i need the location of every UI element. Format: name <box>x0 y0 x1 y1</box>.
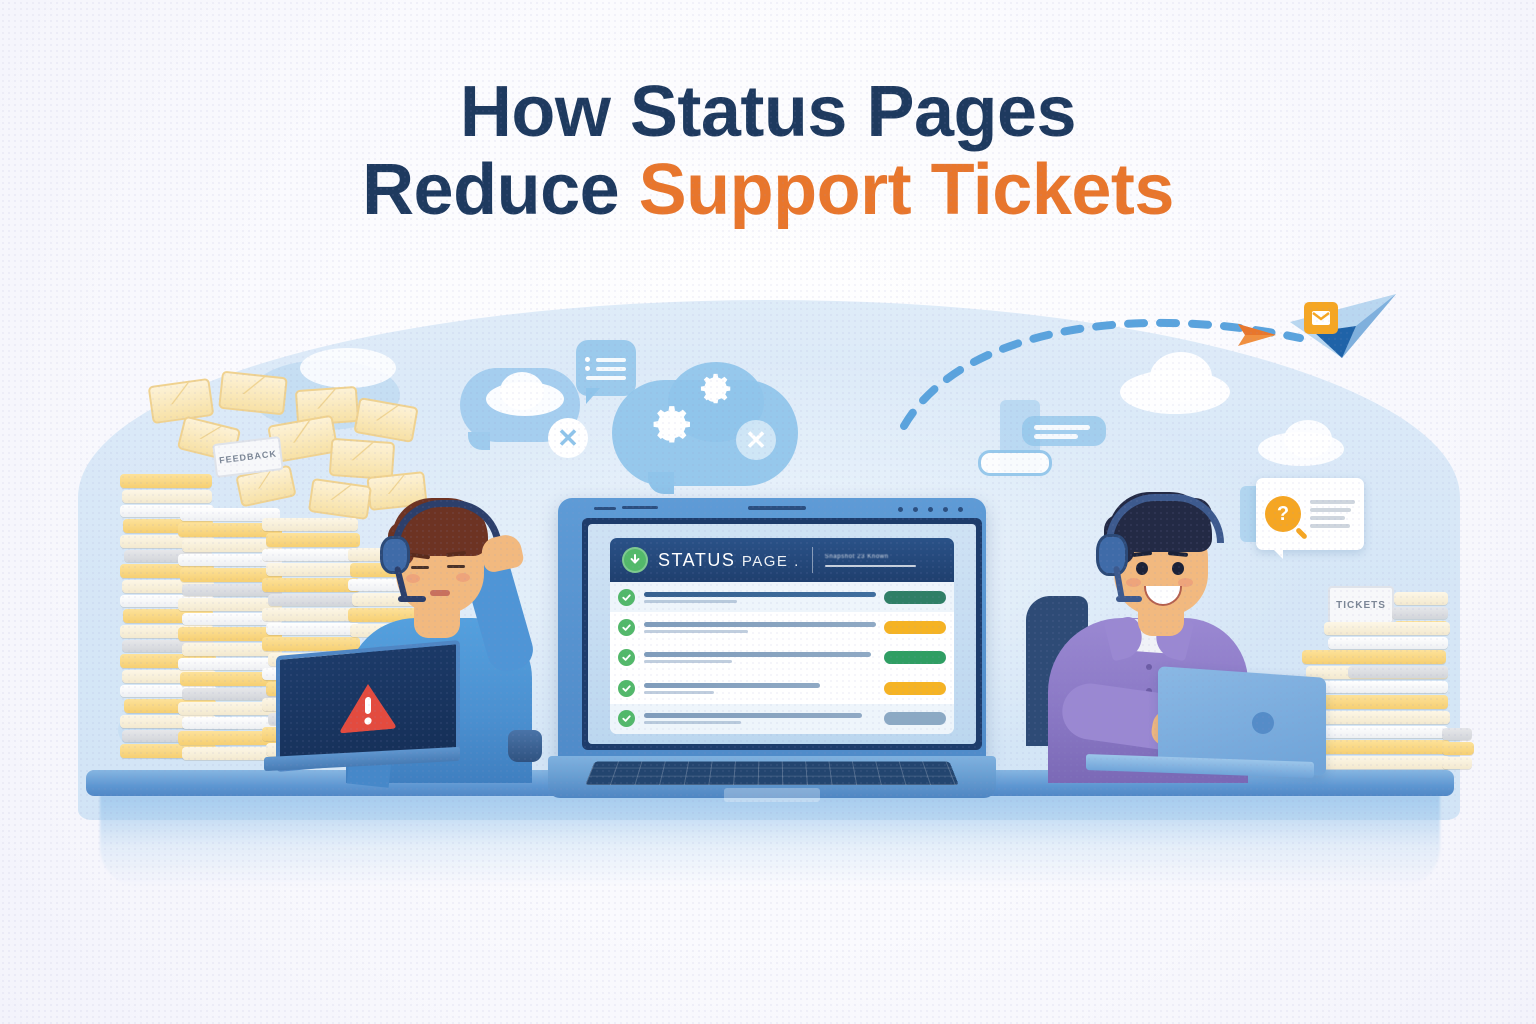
row-text <box>644 652 876 663</box>
paper-sheet <box>122 490 212 503</box>
title-line-2-prefix: Reduce <box>362 150 639 230</box>
status-row[interactable] <box>610 582 954 612</box>
paper-sheet <box>1442 757 1472 769</box>
envelope-glyph <box>1311 310 1331 326</box>
stack-label: TICKETS <box>1328 586 1394 624</box>
agent-cheek <box>456 573 470 582</box>
paper-sheet <box>120 474 212 488</box>
status-badge <box>884 682 946 695</box>
bezel-dot <box>913 507 918 512</box>
close-icon: ✕ <box>736 420 776 460</box>
status-badge <box>884 712 946 725</box>
brand-bold: STATUS <box>658 550 735 570</box>
status-badge <box>884 621 946 634</box>
agent-mouth <box>430 590 450 596</box>
agent-eye-closed <box>447 565 465 568</box>
question-glyph: ? <box>1277 503 1289 526</box>
row-text <box>644 622 876 633</box>
paper-plane-icon <box>1236 318 1278 352</box>
status-row[interactable] <box>610 612 954 642</box>
bubble-line <box>596 358 626 362</box>
paper-sheet <box>1394 592 1448 605</box>
bubble-line <box>596 367 626 371</box>
headset-earcup-icon <box>1096 534 1128 576</box>
agent-cheek <box>406 574 420 583</box>
bezel-dot <box>943 507 948 512</box>
status-page-rows <box>610 582 954 734</box>
headset-mic-icon <box>1116 596 1142 602</box>
laptop-trackpad[interactable] <box>724 788 820 802</box>
check-icon <box>618 589 635 606</box>
status-row[interactable] <box>610 704 954 734</box>
laptop-lid: STATUS PAGE . Snapshot 23 Known <box>558 498 986 766</box>
bubble-dot <box>585 357 590 362</box>
ghost-line <box>1034 434 1078 439</box>
envelope-icon <box>1304 302 1338 334</box>
paper-sheet <box>1328 637 1448 649</box>
row-text <box>644 683 876 694</box>
status-row[interactable] <box>610 643 954 673</box>
status-page-header: STATUS PAGE . Snapshot 23 Known <box>610 538 954 582</box>
close-icon: ✕ <box>548 418 588 458</box>
paper-sheet <box>1442 728 1472 740</box>
paper-plane-icon <box>1284 292 1404 364</box>
check-icon <box>618 680 635 697</box>
center-laptop: STATUS PAGE . Snapshot 23 Known <box>548 498 996 798</box>
title-line-2: Reduce Support Tickets <box>0 152 1536 230</box>
bezel-dot <box>928 507 933 512</box>
agent-cheek <box>1126 578 1141 587</box>
shirt-button <box>1146 664 1152 670</box>
status-page-meta: Snapshot 23 Known <box>825 554 942 567</box>
bezel-mark <box>594 507 616 510</box>
status-badge <box>884 591 946 604</box>
card-text-lines <box>1310 500 1355 528</box>
row-text <box>644 713 876 724</box>
bubble-line <box>586 376 626 380</box>
download-circle-icon <box>622 547 648 573</box>
status-badge <box>884 651 946 664</box>
laptop-keyboard[interactable] <box>585 762 959 785</box>
check-icon <box>618 649 635 666</box>
camera-notch <box>748 506 806 510</box>
paper-sheet <box>1324 622 1450 635</box>
bezel-dot <box>898 507 903 512</box>
paper-sheet <box>1442 742 1474 755</box>
check-icon <box>618 619 635 636</box>
check-icon <box>618 710 635 727</box>
meta-text: Snapshot 23 Known <box>825 554 942 560</box>
illustration-canvas: How Status Pages Reduce Support Tickets … <box>0 0 1536 1024</box>
mouse-device <box>508 730 542 762</box>
envelope-icon <box>218 371 288 416</box>
agent-eye <box>1172 562 1184 575</box>
paper-sheet <box>1302 650 1446 664</box>
laptop-logo <box>1252 712 1274 734</box>
header-divider <box>812 547 813 573</box>
meta-rule <box>825 565 916 567</box>
agent-eye <box>1136 562 1148 575</box>
headset-mic-icon <box>398 596 426 602</box>
page-title: How Status Pages Reduce Support Tickets <box>0 74 1536 230</box>
desk-reflection <box>100 795 1440 887</box>
gear-icon <box>640 400 696 456</box>
paper-sheet <box>1392 607 1448 619</box>
gear-icon <box>690 372 736 418</box>
brand-light: PAGE . <box>742 553 800 570</box>
row-text <box>644 592 876 603</box>
status-page-screen: STATUS PAGE . Snapshot 23 Known <box>588 524 976 744</box>
warning-triangle-icon <box>339 678 397 733</box>
ghost-input <box>978 450 1052 476</box>
status-page-brand: STATUS PAGE . <box>658 550 800 571</box>
title-line-2-accent: Support Tickets <box>639 150 1174 230</box>
bezel-mark <box>622 506 658 509</box>
paper-sheet <box>1348 666 1448 678</box>
cloud-icon <box>500 372 544 410</box>
envelope-icon <box>148 378 215 424</box>
agent-eye-closed <box>411 566 429 569</box>
bubble-dot <box>585 366 590 371</box>
download-arrow-glyph <box>628 553 642 567</box>
title-line-1: How Status Pages <box>0 74 1536 152</box>
bezel-dot <box>958 507 963 512</box>
envelope-icon <box>353 397 418 443</box>
status-row[interactable] <box>610 673 954 703</box>
